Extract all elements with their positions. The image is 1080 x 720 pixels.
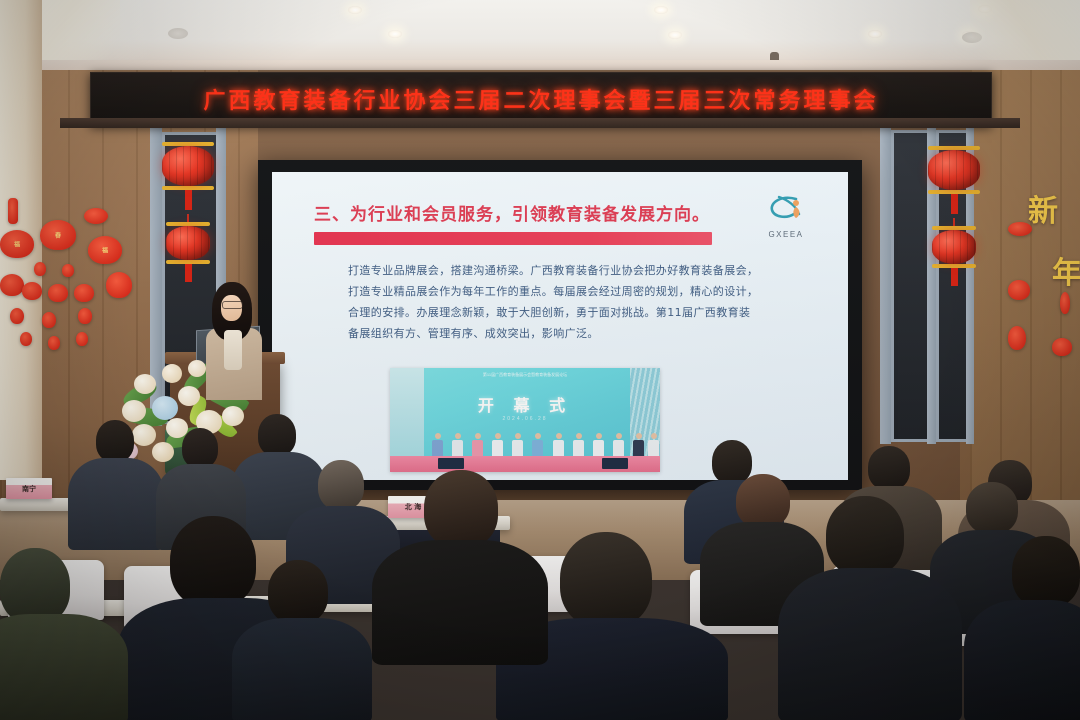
wall-decor-flower <box>0 274 24 296</box>
wall-decor-small <box>62 264 74 277</box>
greeting-char-xin: 新 <box>1028 186 1058 230</box>
projection-screen: 三、为行业和会员服务，引领教育装备发展方向。 GXEEA 打造专业品牌展会，搭建… <box>272 172 848 480</box>
photo-stage-person <box>492 433 503 456</box>
wall-decor-small <box>42 312 56 328</box>
wall-decor-small <box>76 332 88 346</box>
wall-decor-ingot <box>1008 222 1032 236</box>
photo-stage-person <box>432 433 443 456</box>
slide-accent-bar <box>314 232 712 245</box>
wall-decor-small <box>48 336 60 350</box>
slide-body-line: 合理的安排。办展理念新颖，敢于大胆创新，勇于面对挑战。第11届广西教育装 <box>348 302 766 323</box>
photo-stage-person <box>452 433 463 456</box>
slide-body-line: 打造专业精品展会作为每年工作的重点。每届展会经过周密的规划，精心的设计， <box>348 281 766 302</box>
name-placard: 南宁 <box>6 478 52 499</box>
wall-decor-flower <box>106 272 132 298</box>
photo-subhead: 第11届广西教育装备展示会暨教育装备发展论坛 <box>450 372 600 378</box>
gxeea-logo: GXEEA <box>758 194 814 239</box>
gxeea-logo-mark <box>766 194 806 224</box>
slide-body-line: 打造专业品牌展会，搭建沟通桥梁。广西教育装备行业协会把办好教育装备展会， <box>348 260 766 281</box>
red-lantern <box>932 218 976 286</box>
photo-stage-person <box>613 433 624 456</box>
photo-stage-monitor <box>602 458 628 469</box>
presenter-glasses <box>222 301 243 309</box>
wall-decor-lantern-cutout: 福 <box>0 230 34 258</box>
wall-decor-lantern-cutout: 春 <box>40 220 76 250</box>
photo-stage-person <box>633 433 644 456</box>
greeting-char-nian: 年 <box>1052 248 1080 292</box>
wall-decor-small <box>1060 292 1070 314</box>
red-lantern <box>166 214 210 282</box>
slide-body-text: 打造专业品牌展会，搭建沟通桥梁。广西教育装备行业协会把办好教育装备展会， 打造专… <box>348 260 766 344</box>
photo-date: 2024.06.28 <box>502 416 547 422</box>
red-lantern <box>162 142 214 210</box>
slide-embedded-photo: 第11届广西教育装备展示会暨教育装备发展论坛 开 幕 式 2024.06.28 <box>390 368 660 472</box>
wall-decor-ingot <box>84 208 108 224</box>
banner-shelf <box>60 118 1020 128</box>
photo-stage-person <box>573 433 584 456</box>
photo-left-wall <box>390 368 424 456</box>
wall-decor-flower <box>74 284 94 302</box>
photo-stage-person <box>648 433 659 456</box>
conference-photo: 广西教育装备行业协会三届二次理事会暨三届三次常务理事会 福 春 福 新 年 <box>0 0 1080 720</box>
wall-decor-flower <box>1008 280 1030 300</box>
wall-decor-flower <box>1052 338 1072 356</box>
photo-stage-person <box>512 433 523 456</box>
wall-decor-small <box>34 262 46 276</box>
photo-stage-person <box>472 433 483 456</box>
wall-decor-small <box>1008 326 1026 350</box>
wall-decor-lantern-cutout: 福 <box>88 236 122 264</box>
photo-stage-person <box>593 433 604 456</box>
red-lantern <box>928 146 980 214</box>
wall-decor-hanging <box>8 198 18 224</box>
photo-stage-person <box>553 433 564 456</box>
door-frame-right <box>880 124 891 444</box>
wall-decor-small <box>10 308 24 324</box>
photo-headline: 开 幕 式 <box>478 392 572 416</box>
presenter-blouse <box>224 330 242 370</box>
wall-decor-flower <box>48 284 68 302</box>
slide-title: 三、为行业和会员服务，引领教育装备发展方向。 <box>314 200 710 225</box>
wall-decor-small <box>20 332 32 346</box>
gxeea-logo-caption: GXEEA <box>758 230 814 239</box>
photo-stage-monitor <box>438 458 464 469</box>
wall-decor-small <box>78 308 92 324</box>
slide-body-line: 备展组织有方、管理有序、成效突出，影响广泛。 <box>348 323 766 344</box>
wall-decor-flower <box>22 282 42 300</box>
led-banner-text: 广西教育装备行业协会三届二次理事会暨三届三次常务理事会 <box>203 83 878 115</box>
photo-stage-person <box>532 433 543 456</box>
